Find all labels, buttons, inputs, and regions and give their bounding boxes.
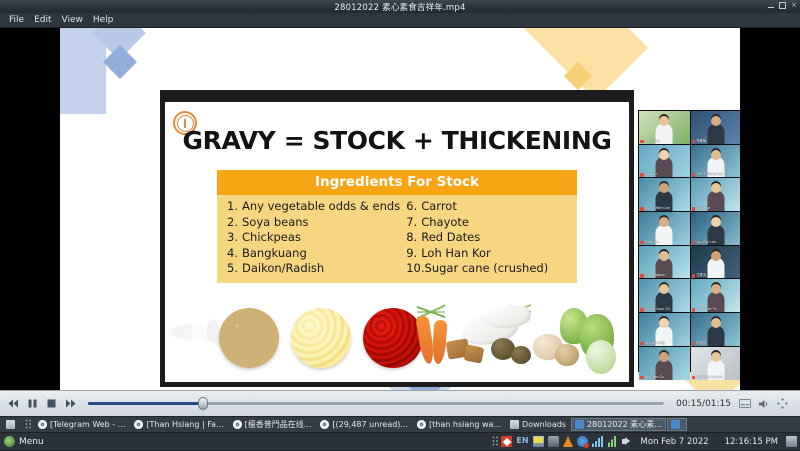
participant-head (659, 217, 669, 227)
taskbar: Menu EN Mon Feb 7 2022 12:16:15 PM (0, 432, 800, 450)
participant-head (659, 251, 669, 261)
system-tray: EN Mon Feb 7 2022 12:16:15 PM (490, 433, 800, 451)
list-item: 2.Soya beans (227, 215, 400, 231)
participant-body (707, 258, 724, 278)
participant-name: 李春梅 (692, 139, 707, 144)
list-number: 3. (227, 230, 242, 246)
menu-item-file[interactable]: File (4, 15, 29, 25)
list-number: 5. (227, 261, 242, 277)
participant-head (659, 352, 669, 362)
zoom-participant-tile[interactable]: Cheng Soon Chi (639, 279, 690, 312)
slide-heading: GRAVY = STOCK + THICKENING (165, 126, 629, 155)
presentation-slide: GRAVY = STOCK + THICKENING Ingredients F… (165, 102, 629, 382)
shared-screen-frame: GRAVY = STOCK + THICKENING Ingredients F… (160, 90, 634, 387)
participant-head (659, 150, 669, 160)
participant-name: 庄美清 (692, 273, 707, 278)
tray-drag-handle[interactable] (492, 436, 499, 447)
menu-bar: File Edit View Help (0, 13, 800, 28)
fullscreen-icon[interactable] (775, 397, 790, 410)
participant-name: Siew Lan (640, 240, 659, 245)
zoom-participant-tile[interactable]: Wong Ngiew (639, 246, 690, 279)
list-item: 3.Chickpeas (227, 230, 400, 246)
participant-name: SDS 5 Mdm Lim (640, 206, 670, 211)
list-item: 9.Loh Han Kor (406, 246, 577, 262)
time-text: 12:16:15 PM (725, 437, 778, 447)
taskbar-window-label: [檀香普門品在线... (245, 419, 312, 430)
menu-item-help[interactable]: Help (88, 15, 119, 25)
taskbar-window-button[interactable]: [than hsiang wa... (413, 418, 505, 431)
participant-head (711, 183, 721, 193)
pause-icon[interactable] (25, 397, 40, 410)
zoom-participant-tile[interactable]: 李春梅 (691, 111, 741, 144)
zoom-participant-tile[interactable]: Hooi Ling (639, 111, 690, 144)
menu-item-edit[interactable]: Edit (29, 15, 56, 25)
taskbar-window-label: [than hsiang wa... (429, 420, 501, 429)
decor-shape (103, 45, 137, 79)
taskbar-window-button[interactable]: [(29,487 unread)... (316, 418, 412, 431)
carrot-photo (431, 320, 447, 365)
list-number: 2. (227, 215, 242, 231)
zoom-participant-tile[interactable]: SDS Hua (691, 178, 741, 211)
taskbar-window-list: [Telegram Web - ...[Than Hsiang | Fa...[… (0, 416, 800, 432)
taskbar-window-button[interactable]: [檀香普門品在线... (229, 418, 316, 431)
list-item: 8.Red Dates (406, 230, 577, 246)
time-display: 00:15/01:15 (676, 399, 731, 409)
participant-name: Gaik Yen & mum (692, 375, 723, 380)
list-text: Carrot (421, 199, 457, 215)
participant-name: Lim Poh Lee (692, 240, 716, 245)
speaker-icon[interactable] (622, 436, 633, 447)
window-controls: × (768, 2, 797, 9)
zoom-participant-tile[interactable]: Siew Lan (639, 212, 690, 245)
sugar-cane-photo (464, 344, 485, 363)
slide-background: GRAVY = STOCK + THICKENING Ingredients F… (60, 28, 740, 390)
taskbar-window-label: Downloads (522, 420, 566, 429)
zoom-participant-tile[interactable]: 陈秀芳 (691, 313, 741, 346)
participant-head (711, 318, 721, 328)
clock-time[interactable]: 12:16:15 PM (717, 437, 786, 447)
zoom-participant-tile[interactable]: Oj Keoh 小慧 (639, 313, 690, 346)
zoom-participant-tile[interactable]: SDS 5 Mengchoo (691, 145, 741, 178)
minimize-button[interactable] (768, 3, 774, 8)
list-text: Loh Han Kor (421, 246, 491, 262)
volume-icon[interactable] (756, 397, 771, 410)
participant-head (711, 116, 721, 126)
list-item: 7.Chayote (406, 215, 577, 231)
stop-icon[interactable] (44, 397, 59, 410)
ingredients-table: Ingredients For Stock 1.Any vegetable od… (217, 170, 577, 283)
display-icon[interactable] (533, 436, 544, 447)
participant-name: Ang Kim Gu (640, 375, 664, 380)
taskbar-drag-handle[interactable] (25, 419, 32, 430)
list-text: Bangkuang (242, 246, 307, 262)
chrome-icon (38, 420, 47, 429)
start-menu-button[interactable]: Menu (0, 433, 50, 451)
chayote-photo (586, 340, 616, 374)
taskbar-window-button[interactable]: [Telegram Web - ... (34, 418, 129, 431)
vegetables-photo (413, 304, 618, 380)
vlc-window: 28012022 素心素食吉祥年.mp4 × File Edit View He… (0, 0, 800, 450)
maximize-button[interactable] (779, 2, 786, 9)
participant-name: Hooi Ling (640, 139, 660, 144)
zoom-participant-grid[interactable]: Hooi Ling李春梅Eng LaiSDS 5 MengchooSDS 5 M… (638, 110, 740, 372)
folder-icon (510, 420, 519, 429)
participant-body (707, 124, 724, 144)
network-icon[interactable] (577, 436, 588, 447)
soya-beans-bowl-photo (219, 308, 279, 368)
zoom-participant-tile[interactable]: 庄美清 (691, 246, 741, 279)
clock-date[interactable]: Mon Feb 7 2022 (633, 437, 717, 447)
taskbar-show-files[interactable] (2, 418, 22, 431)
taskbar-window-label: [Telegram Web - ... (50, 420, 125, 429)
loh-han-kor-photo (511, 346, 531, 364)
vlc-cone-icon[interactable] (563, 436, 573, 447)
video-surface[interactable]: GRAVY = STOCK + THICKENING Ingredients F… (0, 28, 800, 390)
bangkuang-photo (555, 344, 579, 366)
taskbar-window-button[interactable]: Downloads (506, 418, 570, 431)
participant-head (659, 183, 669, 193)
participant-head (711, 284, 721, 294)
participant-name: SDS 5 Mengchoo (692, 172, 724, 177)
list-item: 1.Any vegetable odds & ends (227, 199, 400, 215)
close-button[interactable]: × (791, 2, 797, 9)
seek-slider[interactable] (88, 397, 664, 410)
subtitle-icon[interactable] (737, 397, 752, 410)
player-controls: 00:15/01:15 (0, 390, 800, 416)
participant-name: Eng Lai (640, 172, 657, 177)
vlcwin-icon (671, 420, 680, 429)
participant-name: Wong Ngiew (640, 273, 665, 278)
zoom-participant-tile[interactable]: Tan Swee Tin (691, 279, 741, 312)
zoom-participant-tile[interactable]: Ang Kim Gu (639, 347, 690, 380)
list-item: 10.Sugar cane (crushed) (406, 261, 577, 277)
taskbar-window-button[interactable]: 28012022 素心素... (571, 418, 666, 431)
taskbar-window-label: 28012022 素心素... (587, 419, 662, 430)
participant-head (711, 217, 721, 227)
list-number: 9. (406, 246, 421, 262)
ingredients-right-column: 6.Carrot 7.Chayote 8.Red Dates 9.Loh Han… (400, 199, 577, 277)
menu-item-view[interactable]: View (57, 15, 88, 25)
daikon-photo (484, 304, 532, 331)
list-text: Chickpeas (242, 230, 301, 246)
title-bar: 28012022 素心素食吉祥年.mp4 × (0, 0, 800, 14)
menu-icon (4, 436, 15, 447)
participant-head (659, 318, 669, 328)
taskbar-window-button[interactable] (667, 418, 687, 431)
list-text: Red Dates (421, 230, 480, 246)
participant-name: 陈秀芳 (692, 341, 707, 346)
participant-head (659, 116, 669, 126)
seek-fill (88, 402, 203, 405)
list-number: 6. (406, 199, 421, 215)
rewind-icon[interactable] (6, 397, 21, 410)
list-number: 10. (406, 261, 424, 277)
show-desktop-icon[interactable] (786, 436, 797, 447)
chickpeas-bowl-photo (291, 308, 351, 368)
list-text: Daikon/Radish (242, 261, 324, 277)
list-text: Sugar cane (crushed) (425, 261, 549, 277)
list-text: Any vegetable odds & ends (242, 199, 400, 215)
participant-head (659, 284, 669, 294)
list-item: 6.Carrot (406, 199, 577, 215)
taskbar-window-label: [Than Hsiang | Fa... (146, 420, 223, 429)
list-number: 1. (227, 199, 242, 215)
participant-head (711, 251, 721, 261)
zoom-participant-tile[interactable]: Lim Poh Lee (691, 212, 741, 245)
zoom-participant-tile[interactable]: SDS 5 Mdm Lim (639, 178, 690, 211)
list-number: 4. (227, 246, 242, 262)
signal-icon[interactable] (592, 436, 603, 447)
list-item: 4.Bangkuang (227, 246, 400, 262)
menu-label: Menu (19, 437, 44, 447)
participant-name: Oj Keoh 小慧 (640, 341, 665, 346)
taskbar-window-label: [(29,487 unread)... (332, 420, 408, 429)
window-title: 28012022 素心素食吉祥年.mp4 (0, 1, 800, 13)
list-text: Soya beans (242, 215, 309, 231)
list-text: Chayote (421, 215, 469, 231)
chrome-icon (233, 420, 242, 429)
date-text: Mon Feb 7 2022 (641, 437, 709, 447)
seek-handle[interactable] (198, 397, 208, 410)
list-item: 5.Daikon/Radish (227, 261, 400, 277)
participant-name: Cheng Soon Chi (640, 307, 670, 312)
list-number: 8. (406, 230, 421, 246)
fast-forward-icon[interactable] (63, 397, 78, 410)
zoom-participant-tile[interactable]: Gaik Yen & mum (691, 347, 741, 380)
taskbar-window-button[interactable]: [Than Hsiang | Fa... (130, 418, 227, 431)
participant-head (711, 150, 721, 160)
ingredient-photos (165, 302, 629, 382)
chrome-icon (134, 420, 143, 429)
participant-body (656, 157, 673, 177)
camera-icon[interactable] (548, 436, 559, 447)
record-icon[interactable] (501, 436, 512, 447)
chrome-icon (417, 420, 426, 429)
zoom-participant-tile[interactable]: Eng Lai (639, 145, 690, 178)
chrome-icon (320, 420, 329, 429)
participant-name: SDS Hua (692, 206, 711, 211)
signal2-icon[interactable] (607, 436, 618, 447)
list-number: 7. (406, 215, 421, 231)
vlcwin-icon (575, 420, 584, 429)
participant-name: Tan Swee Tin (692, 307, 718, 312)
language-indicator[interactable]: EN (516, 436, 528, 447)
participant-body (707, 326, 724, 346)
table-header: Ingredients For Stock (217, 170, 577, 195)
ingredients-left-column: 1.Any vegetable odds & ends 2.Soya beans… (217, 199, 400, 277)
participant-head (711, 352, 721, 362)
